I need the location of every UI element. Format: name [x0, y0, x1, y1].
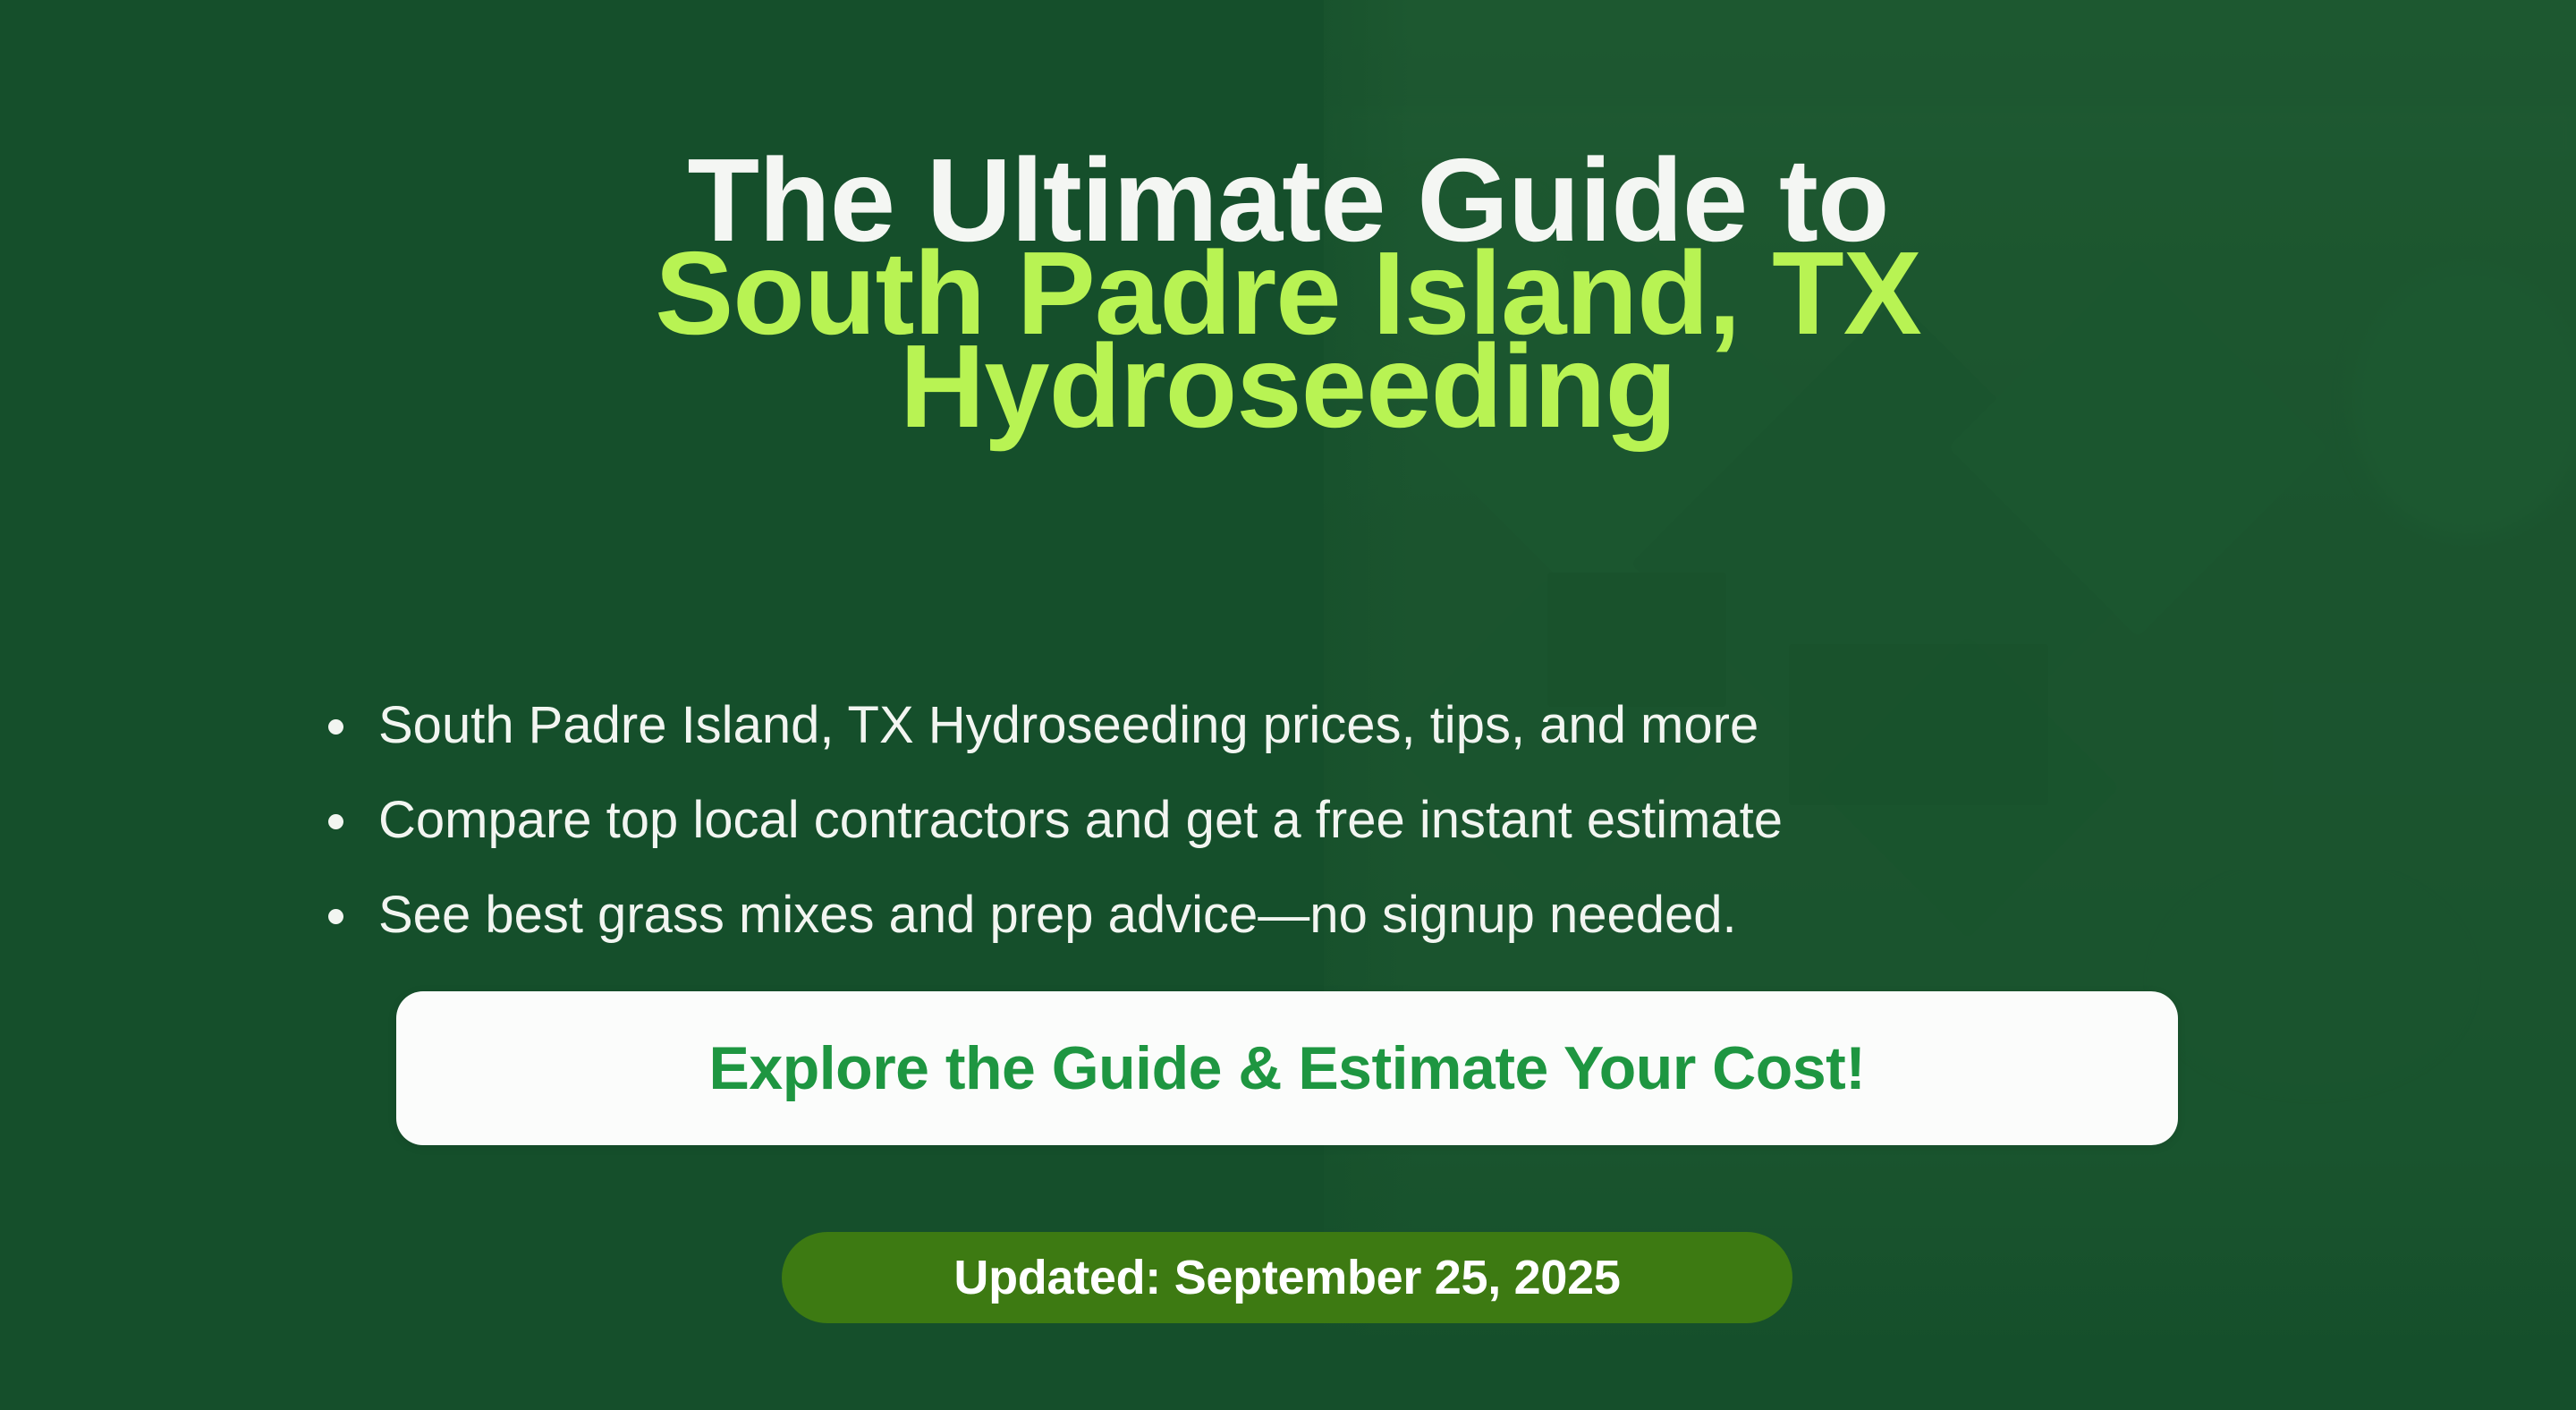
hero-banner: The Ultimate Guide to South Padre Island… — [0, 0, 2576, 1410]
explore-guide-button[interactable]: Explore the Guide & Estimate Your Cost! — [396, 991, 2178, 1145]
list-item-label: See best grass mixes and prep advice—no … — [378, 886, 1737, 944]
bullet-dot-icon — [328, 909, 343, 924]
list-item: See best grass mixes and prep advice—no … — [318, 868, 2285, 963]
list-item-label: South Padre Island, TX Hydroseeding pric… — [378, 696, 1758, 754]
bullet-dot-icon — [328, 814, 343, 829]
list-item: Compare top local contractors and get a … — [318, 773, 2285, 868]
updated-badge: Updated: September 25, 2025 — [782, 1232, 1792, 1323]
bullet-dot-icon — [328, 719, 343, 735]
list-item-label: Compare top local contractors and get a … — [378, 791, 1783, 849]
hero-content: The Ultimate Guide to South Padre Island… — [0, 0, 2576, 1410]
headline-line-3: Hydroseeding — [0, 340, 2576, 433]
list-item: South Padre Island, TX Hydroseeding pric… — [318, 678, 2285, 773]
benefits-list: South Padre Island, TX Hydroseeding pric… — [318, 678, 2285, 963]
page-title: The Ultimate Guide to South Padre Island… — [0, 115, 2576, 433]
